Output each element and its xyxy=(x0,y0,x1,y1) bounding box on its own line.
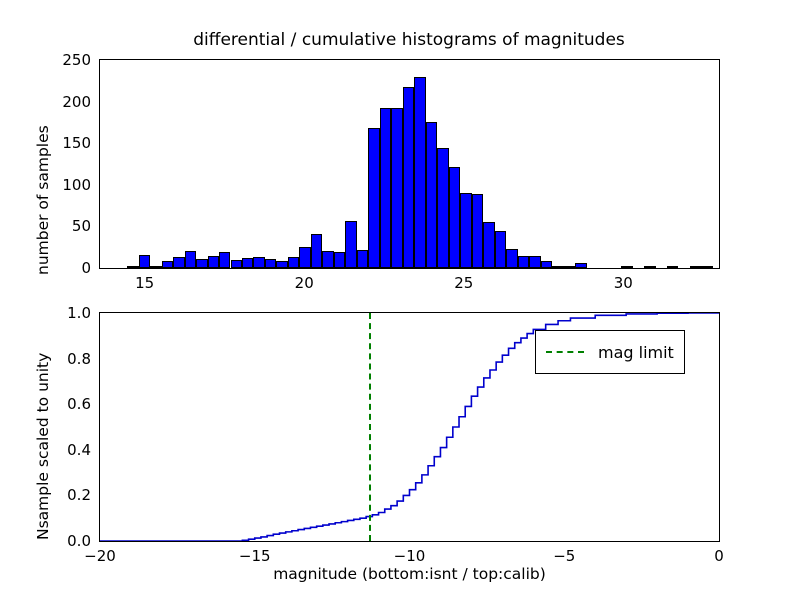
histogram-bar xyxy=(414,77,425,268)
histogram-bar xyxy=(426,122,437,268)
histogram-bar xyxy=(403,87,414,268)
bottom-axis-xtick-label: −15 xyxy=(239,547,271,565)
histogram-bar xyxy=(472,194,483,268)
histogram-bar xyxy=(690,266,701,268)
histogram-bar xyxy=(667,266,678,268)
legend-label-mag-limit: mag limit xyxy=(598,343,674,362)
bottom-axis-ytick-label: 0.8 xyxy=(41,350,91,368)
histogram-bar xyxy=(437,148,448,268)
histogram-bar xyxy=(139,255,150,268)
histogram-bar xyxy=(322,251,333,268)
figure-canvas: differential / cumulative histograms of … xyxy=(0,0,800,600)
histogram-bar xyxy=(460,193,471,268)
top-axis-ytick-label: 100 xyxy=(41,176,91,194)
histogram-bar xyxy=(701,266,712,268)
histogram-bar xyxy=(127,266,138,268)
bottom-axis-ytick-label: 1.0 xyxy=(41,304,91,322)
bottom-axis-xtick-label: −20 xyxy=(84,547,116,565)
histogram-bar xyxy=(311,234,322,268)
histogram-plot-area xyxy=(100,60,719,268)
top-axis-xtick-label: 30 xyxy=(614,274,633,292)
bottom-axis-ytick-label: 0.4 xyxy=(41,441,91,459)
histogram-bar xyxy=(173,257,184,268)
histogram-bar xyxy=(150,266,161,268)
chart-title: differential / cumulative histograms of … xyxy=(99,30,719,50)
top-axis-ytick-label: 250 xyxy=(41,51,91,69)
histogram-bar xyxy=(621,266,632,268)
histogram-bar xyxy=(529,256,540,268)
bottom-axis-xtick-label: −5 xyxy=(553,547,575,565)
histogram-bar xyxy=(276,261,287,268)
histogram-bar xyxy=(334,252,345,268)
bottom-axis-xtick-label: −10 xyxy=(394,547,426,565)
bottom-axis-ytick-label: 0.6 xyxy=(41,395,91,413)
histogram-bar xyxy=(449,167,460,268)
mag-limit-dashed-line-icon xyxy=(546,351,584,353)
top-axis-xtick-label: 25 xyxy=(454,274,473,292)
histogram-bar xyxy=(242,258,253,268)
histogram-bar xyxy=(552,266,563,268)
histogram-bar xyxy=(380,108,391,268)
top-axis-ytick-label: 0 xyxy=(41,259,91,277)
top-axis-ytick-label: 150 xyxy=(41,134,91,152)
histogram-bar xyxy=(185,251,196,268)
histogram-bar xyxy=(518,256,529,268)
mag-limit-vline xyxy=(369,313,371,541)
histogram-bar xyxy=(208,256,219,268)
histogram-bar xyxy=(483,222,494,268)
histogram-bar xyxy=(253,257,264,268)
bottom-axis-ytick-label: 0.2 xyxy=(41,486,91,504)
top-axis-ytick-label: 200 xyxy=(41,93,91,111)
histogram-bar xyxy=(495,231,506,268)
bottom-axis-xlabel: magnitude (bottom:isnt / top:calib) xyxy=(99,565,720,583)
histogram-bar xyxy=(564,266,575,268)
histogram-bar xyxy=(162,261,173,268)
differential-histogram-axes xyxy=(99,59,720,269)
histogram-bar xyxy=(391,108,402,268)
cumulative-histogram-axes: mag limit xyxy=(99,312,720,542)
histogram-bar xyxy=(231,260,242,268)
histogram-bar xyxy=(345,221,356,268)
histogram-bar xyxy=(644,266,655,268)
histogram-bar xyxy=(299,247,310,268)
top-axis-xtick-label: 15 xyxy=(135,274,154,292)
histogram-bar xyxy=(357,250,368,268)
bottom-axis-xtick-label: 0 xyxy=(714,547,724,565)
histogram-bar xyxy=(368,128,379,268)
histogram-bar xyxy=(265,259,276,268)
histogram-bar xyxy=(288,257,299,268)
histogram-bar xyxy=(575,263,586,268)
histogram-bar xyxy=(219,252,230,268)
legend[interactable]: mag limit xyxy=(535,330,685,374)
histogram-bar xyxy=(506,249,517,268)
top-axis-xtick-label: 20 xyxy=(295,274,314,292)
top-axis-ytick-label: 50 xyxy=(41,217,91,235)
histogram-bar xyxy=(541,261,552,268)
histogram-bar xyxy=(196,259,207,268)
